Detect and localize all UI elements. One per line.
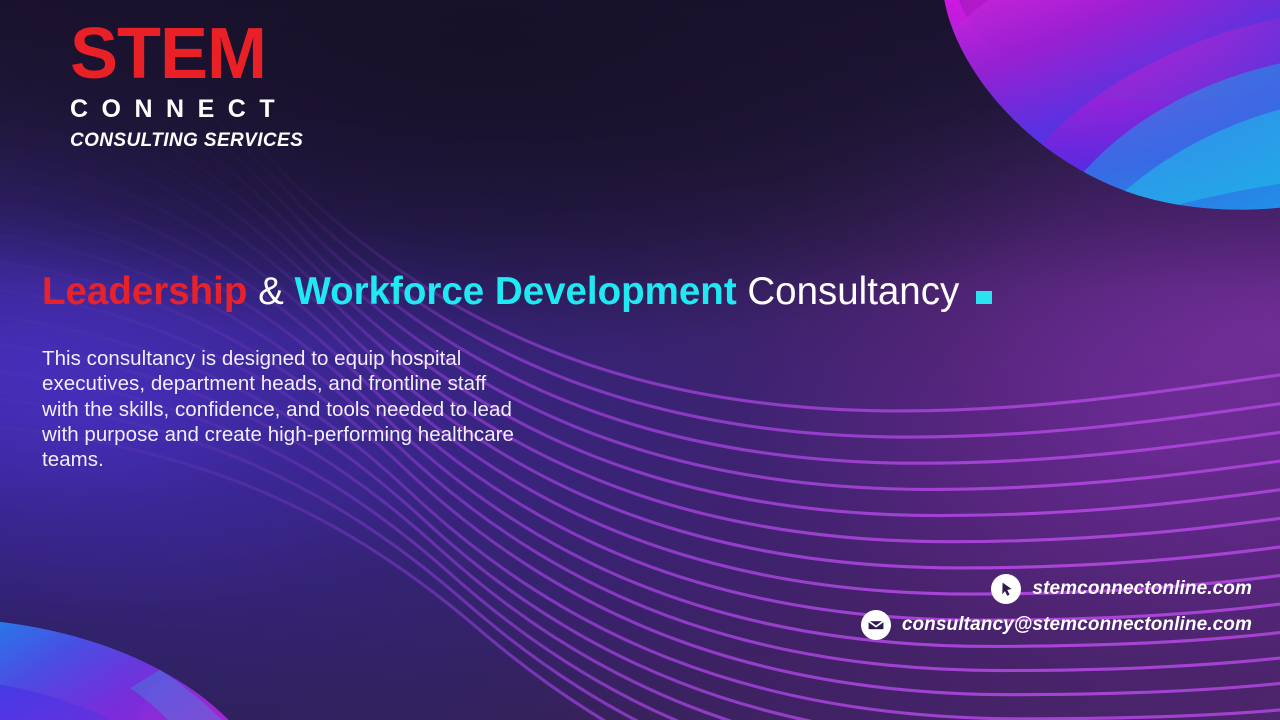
contact-block: stemconnectonline.com consultancy@stemco… (861, 574, 1252, 640)
description-line: executives, department heads, and frontl… (42, 371, 617, 396)
logo-sub-text: CONNECT (70, 97, 370, 122)
headline-part-leadership: Leadership (42, 270, 247, 313)
headline-period-square (976, 291, 992, 304)
slide-canvas: STEM CONNECT CONSULTING SERVICES Leaders… (0, 0, 1280, 720)
decorative-blob-bottom-left (0, 520, 300, 720)
description-line: teams. (42, 447, 617, 472)
contact-row-email[interactable]: consultancy@stemconnectonline.com (861, 610, 1252, 640)
description-line: with the skills, confidence, and tools n… (42, 397, 617, 422)
envelope-icon (861, 610, 891, 640)
decorative-blob-top-right (914, 0, 1280, 222)
headline-part-workforce: Workforce Development (295, 270, 737, 313)
description-paragraph: This consultancy is designed to equip ho… (42, 346, 617, 472)
description-line: with purpose and create high-performing … (42, 422, 617, 447)
headline-part-ampersand: & (258, 270, 284, 313)
page-title: Leadership & Workforce Development Consu… (42, 272, 992, 312)
email-text: consultancy@stemconnectonline.com (902, 614, 1252, 636)
logo-tagline-text: CONSULTING SERVICES (70, 131, 370, 150)
headline-part-consultancy: Consultancy (747, 270, 959, 313)
contact-row-website[interactable]: stemconnectonline.com (991, 574, 1252, 604)
cursor-pointer-icon (991, 574, 1021, 604)
description-line: This consultancy is designed to equip ho… (42, 346, 617, 371)
brand-logo: STEM CONNECT CONSULTING SERVICES (70, 20, 370, 150)
website-text: stemconnectonline.com (1032, 578, 1252, 600)
logo-brand-text: STEM (70, 20, 370, 88)
